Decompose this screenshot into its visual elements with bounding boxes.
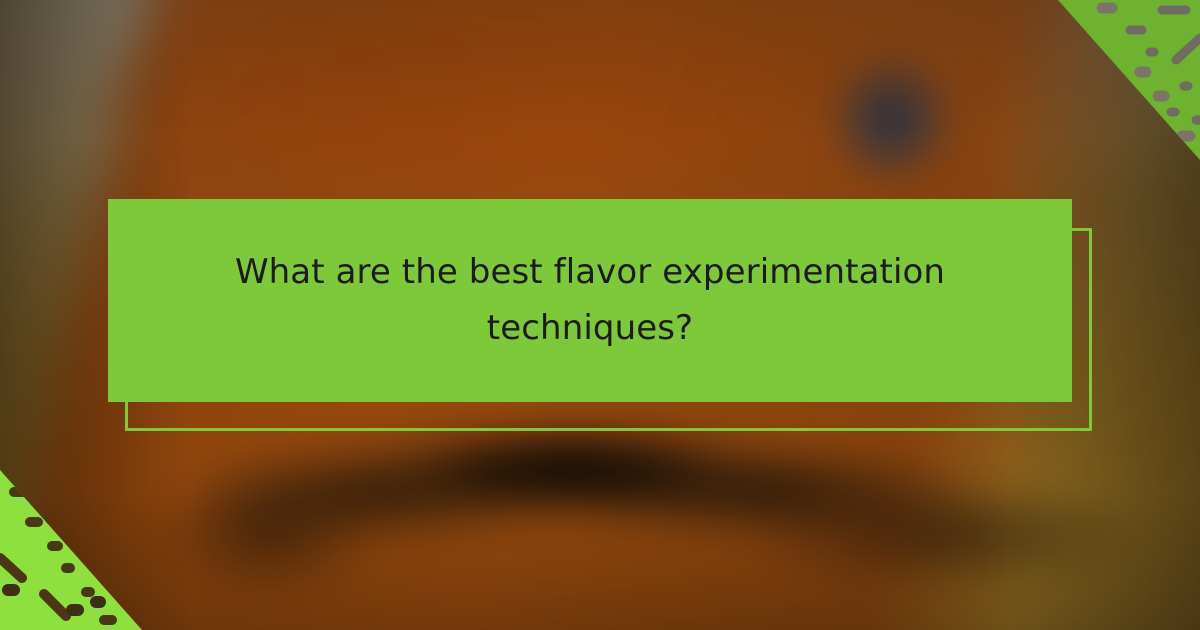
corner-decoration-bottom-left (0, 470, 150, 630)
question-panel: What are the best flavor experimentation… (108, 199, 1072, 402)
corner-decoration-top-right (1050, 0, 1200, 160)
dashes-pattern-icon (1050, 0, 1200, 160)
question-text: What are the best flavor experimentation… (210, 245, 970, 355)
dashes-pattern-icon (0, 470, 150, 630)
question-card-stage: What are the best flavor experimentation… (0, 0, 1200, 630)
